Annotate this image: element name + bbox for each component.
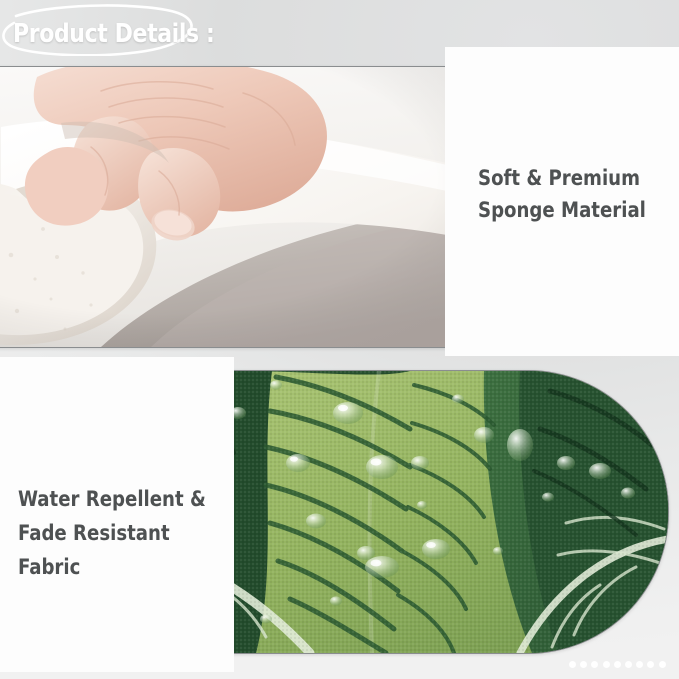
panel-water-repellent-text: Water Repellent & Fade Resistant Fabric [18, 482, 227, 584]
panel-soft-premium-line-2: Sponge Material [478, 195, 670, 227]
panel-water-repellent-line-1: Water Repellent & [18, 482, 227, 516]
panel-soft-premium-text: Soft & Premium Sponge Material [478, 163, 670, 227]
carousel-dot[interactable] [569, 661, 576, 668]
carousel-dot[interactable] [659, 661, 666, 668]
carousel-dot[interactable] [636, 661, 643, 668]
carousel-dot[interactable] [614, 661, 621, 668]
carousel-dot[interactable] [580, 661, 587, 668]
foam-photo-card [0, 66, 447, 348]
carousel-dot[interactable] [647, 661, 654, 668]
page-title: Product Details : [13, 19, 214, 49]
panel-soft-premium: Soft & Premium Sponge Material [445, 47, 679, 356]
product-details-graphic: Product Details : [0, 0, 679, 679]
carousel-dot[interactable] [591, 661, 598, 668]
header: Product Details : [0, 0, 300, 62]
carousel-dots[interactable] [569, 661, 666, 668]
panel-water-repellent-line-2: Fade Resistant Fabric [18, 516, 227, 584]
panel-soft-premium-line-1: Soft & Premium [478, 163, 670, 195]
carousel-dot[interactable] [625, 661, 632, 668]
foam-photo-image [0, 67, 447, 347]
carousel-dot[interactable] [603, 661, 610, 668]
panel-water-repellent: Water Repellent & Fade Resistant Fabric [0, 357, 234, 672]
